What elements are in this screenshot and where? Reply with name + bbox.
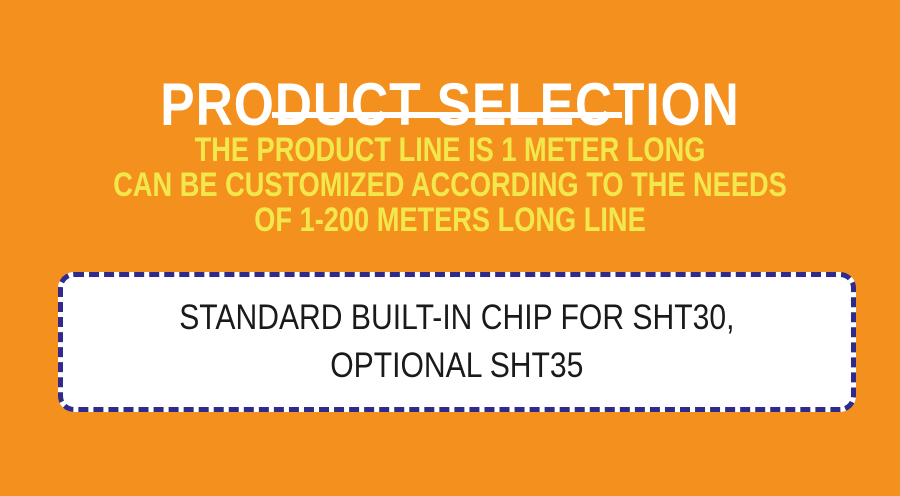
subtitle-block: THE PRODUCT LINE IS 1 METER LONG CAN BE … [0,133,900,238]
page-title: PRODUCT SELECTION [63,72,837,138]
subtitle-line-2: CAN BE CUSTOMIZED ACCORDING TO THE NEEDS [90,168,810,203]
product-selection-slide: PRODUCT SELECTION THE PRODUCT LINE IS 1 … [0,0,900,496]
subtitle-line-1: THE PRODUCT LINE IS 1 METER LONG [90,133,810,168]
chip-callout-box: STANDARD BUILT-IN CHIP FOR SHT30, OPTION… [58,272,856,412]
title-divider [272,112,622,118]
subtitle-line-3: OF 1-200 METERS LONG LINE [90,203,810,238]
callout-text: STANDARD BUILT-IN CHIP FOR SHT30, OPTION… [134,294,780,390]
callout-line-1: STANDARD BUILT-IN CHIP FOR SHT30, [179,294,734,342]
callout-line-2: OPTIONAL SHT35 [179,342,734,390]
